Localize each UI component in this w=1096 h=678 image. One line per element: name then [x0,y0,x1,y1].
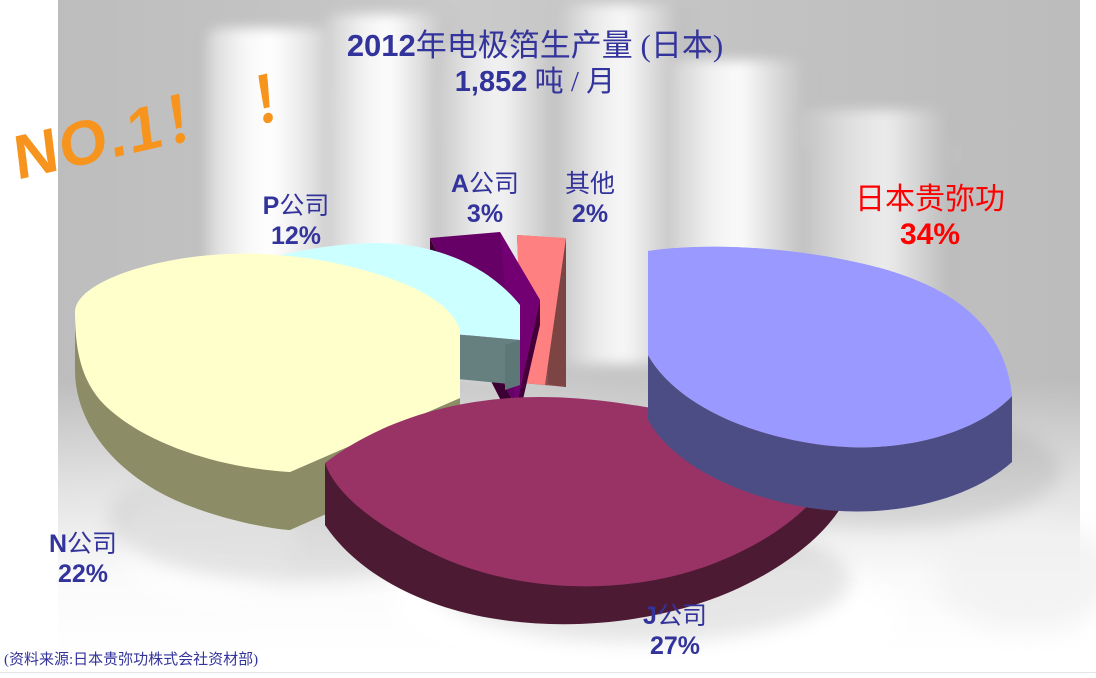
title-volume: 1,852 [455,66,528,98]
no1-bang-2: ！ [247,56,318,139]
slide-title: 2012年电极箔生产量 (日本) 1,852 吨 / 月 [300,28,770,99]
bottom-divider [0,672,1096,673]
pie-label-a-name: A公司 [430,170,540,200]
no1-bang-1: ！ [159,76,230,159]
pie-label-kemet-name: 日本贵弥功 [820,182,1040,217]
title-line-1: 2012年电极箔生产量 (日本) [300,28,770,65]
pie-label-n-pct: 22% [8,560,158,590]
pie-label-other-pct: 2% [535,200,645,230]
pie-label-n: N公司 22% [8,530,158,589]
pie-label-kemet: 日本贵弥功 34% [820,182,1040,253]
pie-label-p-pct: 12% [226,222,366,252]
title-line-2: 1,852 吨 / 月 [300,65,770,99]
slide-canvas: 2012年电极箔生产量 (日本) 1,852 吨 / 月 NO.1！！ P公司 … [0,0,1096,678]
source-footnote: (资料来源:日本贵弥功株式会社资材部) [4,648,258,669]
pie-label-a-pct: 3% [430,200,540,230]
pie-label-p-name: P公司 [226,192,366,222]
pie-label-j-name: J公司 [600,602,750,632]
pie-label-other: 其他 2% [535,170,645,229]
pie-label-a: A公司 3% [430,170,540,229]
pie-label-j: J公司 27% [600,602,750,661]
title-unit: 吨 / 月 [527,66,615,98]
pie-label-other-name: 其他 [535,170,645,200]
pie-label-j-pct: 27% [600,632,750,662]
pie-label-p: P公司 12% [226,192,366,251]
no1-text: NO.1 [10,91,167,194]
title-line-1-text: 年电极箔生产量 (日本) [416,28,723,63]
pie-label-kemet-pct: 34% [820,217,1040,252]
pie-label-n-name: N公司 [8,530,158,560]
